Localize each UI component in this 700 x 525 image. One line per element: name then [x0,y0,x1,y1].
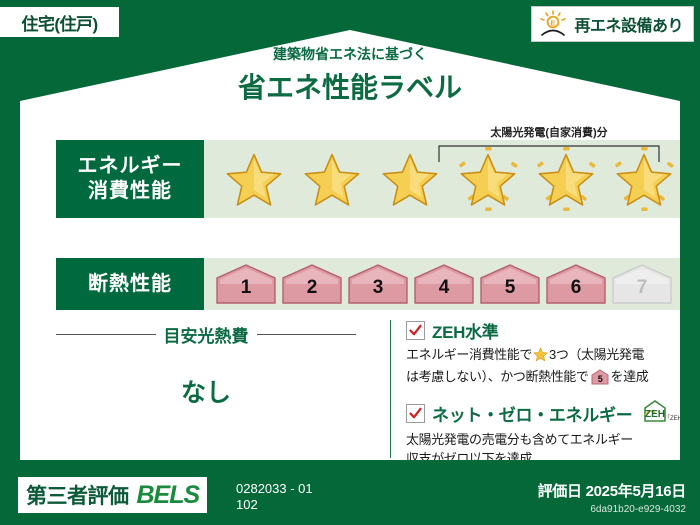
zeh-standard-description: エネルギー消費性能で3つ（太陽光発電は考慮しない）、かつ断熱性能で5を達成 [406,346,686,391]
insulation-grade-value: 7 [637,277,648,305]
bels-certification-box: 第三者評価 BELS [18,477,207,513]
insulation-grade-value: 2 [307,277,318,305]
inline-star-icon [533,347,548,368]
zeh-standard-head: ZEH水準 [406,318,686,343]
solar-bracket [438,142,660,164]
evaluation-date-label: 評価日 [538,483,582,500]
zeh-standard-checkbox[interactable] [406,321,425,340]
zeh-desc-part2: は考慮しない）、かつ断熱性能で [406,369,589,384]
zeh-item-standard: ZEH水準 エネルギー消費性能で3つ（太陽光発電は考慮しない）、かつ断熱性能で5… [406,318,686,391]
insulation-grade-value: 4 [439,277,450,305]
insulation-grade-value: 1 [241,277,252,305]
star-3 [374,143,446,215]
sun-icon: E [538,10,568,38]
energy-label-line1: エネルギー [78,154,183,179]
insulation-grade-6: 6 [544,263,608,305]
housing-type-tag: 住宅(住戸) [0,6,120,38]
bels-logo-text: BELS [137,481,200,510]
insulation-grade-3: 3 [346,263,410,305]
zeh-desc-part1: エネルギー消費性能で [406,347,532,362]
zeh-netzero-head: ネット・ゼロ・エネルギー ZEH 「ZEH」 [406,399,686,428]
zeh-block: ZEH水準 エネルギー消費性能で3つ（太陽光発電は考慮しない）、かつ断熱性能で5… [406,318,686,476]
inline-grade-value: 5 [597,374,602,384]
section-divider [390,320,391,458]
zeh-netzero-checkbox[interactable] [406,404,425,423]
title-block: 建築物省エネ法に基づく 省エネ性能ラベル [20,44,680,106]
zeh-netzero-line1: 太陽光発電の売電分も含めてエネルギー [406,432,633,447]
insulation-grade-1: 1 [214,263,278,305]
energy-label-line2: 消費性能 [88,179,172,204]
bels-id-line2: 102 [236,497,386,513]
renewable-equipment-badge: E 再エネ設備あり [531,6,694,42]
energy-performance-row: エネルギー 消費性能 太陽光発電(自家消費)分 [56,140,684,218]
insulation-grade-scale: 1234567 [214,258,678,310]
insulation-grade-value: 5 [505,277,516,305]
insulation-grade-value: 3 [373,277,384,305]
zeh-standard-title: ZEH水準 [432,318,499,343]
bels-energy-label: 住宅(住戸) E 再エネ設備あり 建築物省エネ法に基づく 省エネ性能ラ [0,0,700,525]
label-panel: 建築物省エネ法に基づく 省エネ性能ラベル エネルギー 消費性能 太陽光発電(自家… [20,30,680,460]
bels-id: 0282033 - 01 102 [236,481,386,514]
insulation-grade-7: 7 [610,263,674,305]
zeh-desc-part3: を達成 [611,369,649,384]
zeh-logo-subtext: 「ZEH」 [664,415,688,422]
page-title: 省エネ性能ラベル [20,66,680,106]
insulation-grade-4: 4 [412,263,476,305]
evaluation-date-value: 2025年5月16日 [586,483,686,500]
footer-right: 評価日 2025年5月16日 6da91b20-e929-4032 [538,480,686,515]
insulation-grade-2: 2 [280,263,344,305]
zeh-desc-star: 3つ（太陽光発電 [549,347,644,362]
insulation-performance-row: 断熱性能 1234567 [56,258,684,310]
utility-cost-header: 目安光熱費 [56,322,356,347]
utility-cost-title: 目安光熱費 [164,322,249,347]
insulation-performance-label: 断熱性能 [56,258,204,310]
title-subtitle: 建築物省エネ法に基づく [20,44,680,64]
rule-right [257,334,357,335]
third-party-label: 第三者評価 [26,480,129,510]
zeh-logo-icon: ZEH 「ZEH」 [642,399,688,428]
utility-cost-value: なし [56,373,356,409]
insulation-grade-5: 5 [478,263,542,305]
document-hash: 6da91b20-e929-4032 [538,504,686,515]
evaluation-date: 評価日 2025年5月16日 [538,480,686,501]
zeh-item-netzero: ネット・ゼロ・エネルギー ZEH 「ZEH」 太陽光発電の売電分も含めてエネルギ… [406,399,686,469]
energy-performance-label: エネルギー 消費性能 [56,140,204,218]
insulation-grade-value: 6 [571,277,582,305]
renewable-badge-label: 再エネ設備あり [574,12,683,36]
star-1 [218,143,290,215]
rule-left [56,334,156,335]
insulation-performance-body: 1234567 [204,258,684,310]
housing-type-text: 住宅(住戸) [21,10,97,35]
zeh-netzero-line2: 収支がゼロ以下を達成 [406,451,532,466]
utility-cost-block: 目安光熱費 なし [56,322,356,409]
solar-bracket-label: 太陽光発電(自家消費)分 [418,124,680,140]
star-2 [296,143,368,215]
zeh-netzero-title: ネット・ゼロ・エネルギー [432,401,632,426]
inline-grade-badge: 5 [591,369,609,391]
energy-performance-body: 太陽光発電(自家消費)分 [204,140,684,218]
zeh-netzero-description: 太陽光発電の売電分も含めてエネルギー収支がゼロ以下を達成 [406,431,686,469]
insulation-label-line1: 断熱性能 [88,272,172,297]
bels-id-line1: 0282033 - 01 [236,481,386,497]
zeh-logo-text: ZEH [645,409,665,420]
svg-text:E: E [551,21,556,28]
